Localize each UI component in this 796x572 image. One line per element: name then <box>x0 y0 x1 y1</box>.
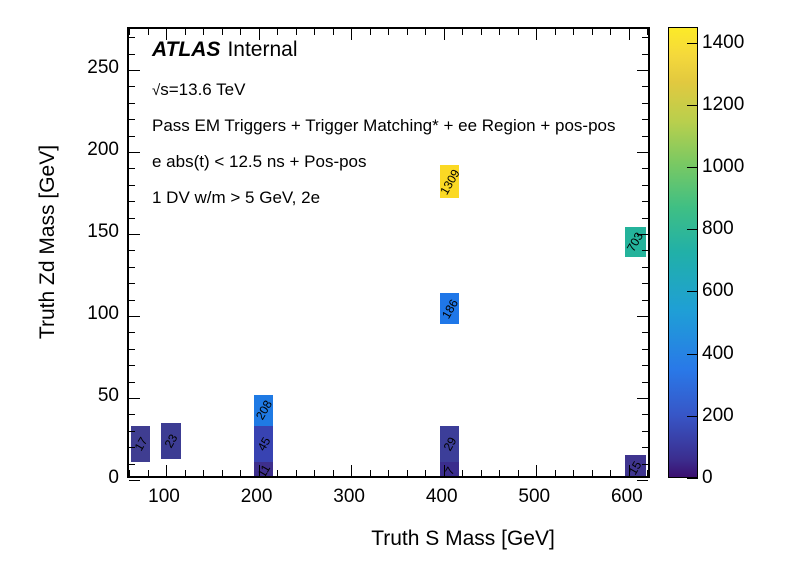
y-axis-tick <box>129 349 135 350</box>
y-axis-tick <box>129 480 140 481</box>
y-axis-tick <box>129 136 135 137</box>
x-axis-tick <box>462 470 463 476</box>
x-axis-tick <box>129 470 130 476</box>
color-scale-label: 1200 <box>702 94 744 116</box>
x-axis-tick <box>481 470 482 476</box>
x-axis-tick <box>518 470 519 476</box>
heatmap-cell: 45 <box>254 426 273 462</box>
legend-text-block: ATLASInternal s=13.6 TeV Pass EM Trigger… <box>152 38 652 224</box>
x-axis-tick-top <box>647 29 648 35</box>
color-scale-tick <box>687 229 698 230</box>
x-tick-label: 600 <box>592 486 662 508</box>
heatmap-cell: 11 <box>254 462 273 476</box>
y-axis-tick <box>129 365 135 366</box>
y-axis-tick <box>129 267 135 268</box>
y-axis-tick <box>129 382 135 383</box>
legend-line-timing: e abs(t) < 12.5 ns + Pos-pos <box>152 152 652 172</box>
x-tick-label: 400 <box>407 486 477 508</box>
y-tick-label: 250 <box>49 57 119 79</box>
x-axis-tick <box>148 470 149 476</box>
x-axis-tick-top <box>592 29 593 35</box>
x-axis-tick-top <box>518 29 519 35</box>
color-scale-tick <box>687 291 698 292</box>
x-axis-tick-top <box>499 29 500 35</box>
x-axis-title: Truth S Mass [GeV] <box>0 527 796 551</box>
x-axis-tick <box>444 465 445 476</box>
heatmap-cell-value: 186 <box>440 297 460 320</box>
y-axis-tick <box>129 37 135 38</box>
heatmap-cell-value: 7 <box>443 465 457 476</box>
x-axis-tick-top <box>388 29 389 35</box>
sqrt-icon <box>152 80 160 100</box>
y-axis-tick-right <box>637 316 648 317</box>
heatmap-cell: 703 <box>625 227 645 257</box>
x-axis-tick-top <box>129 29 130 35</box>
y-axis-tick <box>129 218 135 219</box>
heatmap-cell: 29 <box>440 426 459 462</box>
heatmap-cell: 208 <box>254 395 273 426</box>
x-axis-tick-top <box>462 29 463 35</box>
y-tick-label: 100 <box>49 303 119 325</box>
legend-line-energy-text: s=13.6 TeV <box>160 80 245 99</box>
chart-canvas: Truth Zd Mass [GeV] Truth S Mass [GeV] 1… <box>0 0 796 572</box>
heatmap-cell-value: 208 <box>253 399 273 422</box>
atlas-logo-text: ATLAS <box>152 38 220 61</box>
y-axis-tick-right <box>642 464 648 465</box>
y-axis-tick <box>129 168 135 169</box>
y-axis-tick <box>129 201 135 202</box>
color-scale-tick <box>687 478 698 479</box>
color-scale-bar <box>668 27 698 478</box>
legend-line-energy: s=13.6 TeV <box>152 80 652 100</box>
x-axis-tick-top <box>370 29 371 35</box>
y-axis-tick-right <box>642 365 648 366</box>
color-scale-label: 600 <box>702 280 734 302</box>
x-axis-tick <box>351 465 352 476</box>
x-axis-tick-top <box>296 29 297 35</box>
x-axis-tick <box>610 470 611 476</box>
heatmap-cell-value: 29 <box>441 435 458 453</box>
heatmap-cell-value: 45 <box>255 435 272 453</box>
y-axis-tick <box>129 283 135 284</box>
color-scale-tick <box>687 354 698 355</box>
atlas-label-line: ATLASInternal <box>152 38 652 62</box>
y-tick-label: 200 <box>49 139 119 161</box>
y-axis-tick <box>129 234 140 235</box>
heatmap-cell-value: 17 <box>132 435 149 453</box>
x-axis-tick-top <box>555 29 556 35</box>
x-axis-tick-top <box>185 29 186 35</box>
x-axis-tick-top <box>425 29 426 35</box>
y-axis-tick-right <box>642 447 648 448</box>
y-axis-tick <box>129 398 140 399</box>
x-axis-tick <box>370 470 371 476</box>
x-axis-tick <box>185 470 186 476</box>
y-axis-tick-right <box>642 382 648 383</box>
x-axis-tick-top <box>240 29 241 35</box>
x-axis-tick-top <box>148 29 149 35</box>
y-axis-tick <box>129 103 135 104</box>
y-axis-tick <box>129 316 140 317</box>
y-axis-tick-right <box>642 300 648 301</box>
x-axis-tick <box>407 470 408 476</box>
y-axis-tick <box>129 464 135 465</box>
x-axis-tick <box>203 470 204 476</box>
x-axis-tick <box>240 470 241 476</box>
color-scale-label: 800 <box>702 218 734 240</box>
x-axis-tick-top <box>314 29 315 35</box>
y-axis-tick-right <box>637 398 648 399</box>
y-tick-label: 50 <box>49 385 119 407</box>
color-scale-label: 1400 <box>702 32 744 54</box>
heatmap-cell-value: 23 <box>163 432 180 450</box>
y-axis-tick-right <box>637 234 648 235</box>
color-scale-label: 0 <box>702 467 713 489</box>
x-axis-tick <box>647 470 648 476</box>
y-axis-tick <box>129 332 135 333</box>
color-scale-label: 1000 <box>702 156 744 178</box>
y-axis-tick <box>129 431 135 432</box>
x-axis-tick <box>166 465 167 476</box>
x-axis-tick <box>536 465 537 476</box>
y-axis-tick <box>129 250 135 251</box>
y-axis-tick-right <box>642 332 648 333</box>
y-axis-tick-right <box>642 414 648 415</box>
color-scale-label: 400 <box>702 343 734 365</box>
x-axis-tick-top <box>222 29 223 35</box>
y-axis-tick <box>129 300 135 301</box>
atlas-status-text: Internal <box>227 38 297 61</box>
x-axis-tick <box>592 470 593 476</box>
x-axis-tick-top <box>277 29 278 35</box>
y-axis-tick-right <box>637 480 648 481</box>
x-axis-tick <box>277 470 278 476</box>
x-axis-tick <box>222 470 223 476</box>
y-axis-tick <box>129 447 135 448</box>
color-scale-tick <box>687 43 698 44</box>
x-axis-tick <box>259 465 260 476</box>
x-axis-tick-top <box>481 29 482 35</box>
x-axis-tick-top <box>407 29 408 35</box>
y-tick-label: 150 <box>49 221 119 243</box>
x-axis-tick-top <box>333 29 334 35</box>
y-axis-tick <box>129 86 135 87</box>
x-tick-label: 500 <box>499 486 569 508</box>
x-axis-tick-top <box>203 29 204 35</box>
legend-line-selection: Pass EM Triggers + Trigger Matching* + e… <box>152 116 652 136</box>
x-tick-label: 100 <box>129 486 199 508</box>
color-scale-label: 200 <box>702 405 734 427</box>
x-axis-tick-top <box>610 29 611 35</box>
x-axis-tick <box>296 470 297 476</box>
y-axis-tick <box>129 119 135 120</box>
legend-line-dv: 1 DV w/m > 5 GeV, 2e <box>152 188 652 208</box>
y-axis-tick <box>129 70 140 71</box>
color-scale-tick <box>687 105 698 106</box>
x-axis-tick <box>573 470 574 476</box>
x-axis-tick <box>314 470 315 476</box>
heatmap-cell: 23 <box>161 423 180 459</box>
x-tick-label: 200 <box>222 486 292 508</box>
y-axis-tick-right <box>642 267 648 268</box>
x-axis-tick <box>425 470 426 476</box>
y-axis-tick-right <box>642 283 648 284</box>
x-axis-title-text: Truth S Mass [GeV] <box>371 527 555 550</box>
color-scale-tick <box>687 167 698 168</box>
color-scale-tick <box>687 416 698 417</box>
y-axis-tick <box>129 152 140 153</box>
y-axis-tick-right <box>642 431 648 432</box>
y-axis-tick <box>129 414 135 415</box>
x-axis-tick <box>333 470 334 476</box>
y-axis-tick-right <box>642 250 648 251</box>
x-axis-tick <box>629 465 630 476</box>
x-axis-tick <box>499 470 500 476</box>
x-tick-label: 300 <box>314 486 384 508</box>
y-tick-label: 0 <box>49 467 119 489</box>
x-axis-tick-top <box>573 29 574 35</box>
x-axis-tick <box>555 470 556 476</box>
y-axis-tick <box>129 185 135 186</box>
x-axis-tick <box>388 470 389 476</box>
y-axis-tick-right <box>642 349 648 350</box>
y-axis-tick <box>129 54 135 55</box>
heatmap-cell: 186 <box>440 293 459 324</box>
